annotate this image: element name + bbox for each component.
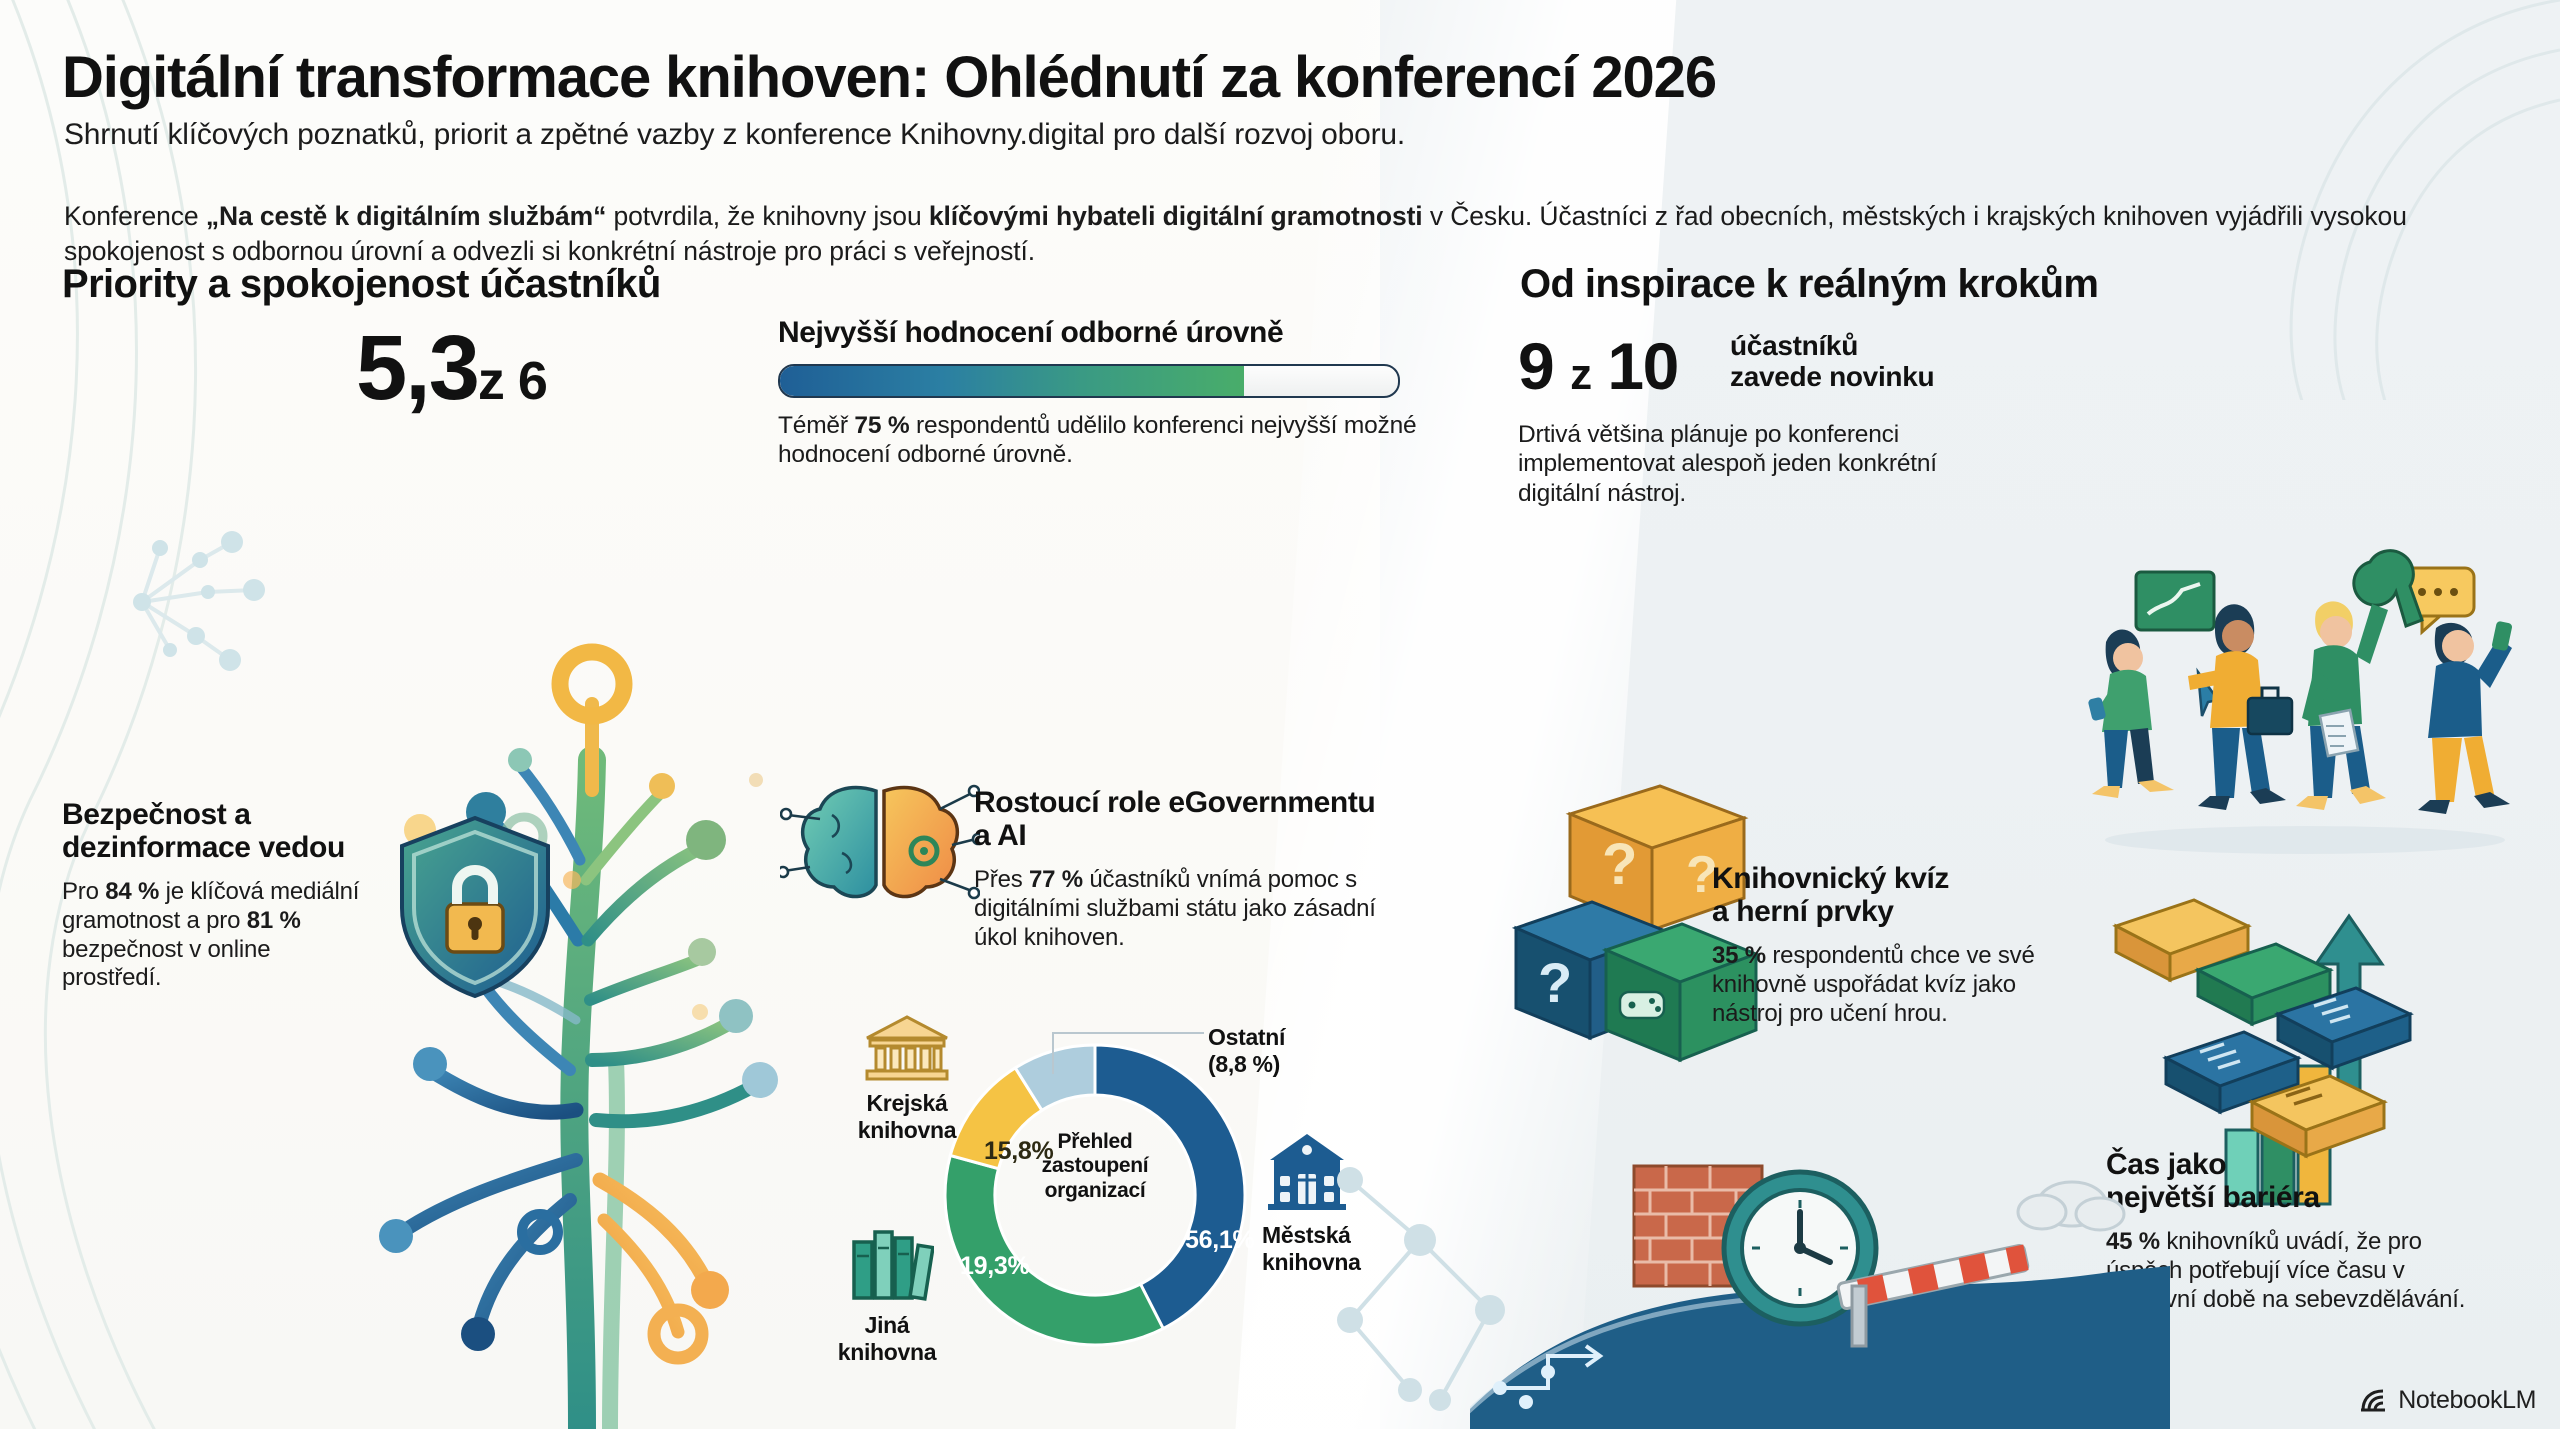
donut-value-jina: 19,3% bbox=[960, 1252, 1029, 1281]
intro-bold-1: „Na cestě k digitálním službám“ bbox=[206, 201, 606, 231]
books-icon bbox=[848, 1222, 934, 1302]
intro-text-1: Konference bbox=[64, 201, 206, 231]
section-heading-left: Priority a spokojenost účastníků bbox=[62, 262, 661, 307]
legend-jina-line2: knihovna bbox=[822, 1339, 952, 1366]
rating-bar-title: Nejvyšší hodnocení odborné úrovně bbox=[778, 316, 1418, 350]
section-heading-right: Od inspirace k reálným krokům bbox=[1520, 262, 2098, 307]
adoption-label-line2: zavede novinku bbox=[1730, 361, 1934, 392]
shield-lock-icon bbox=[390, 812, 560, 1002]
bank-icon bbox=[862, 1012, 952, 1082]
block-quiz-body: 35 % respondentů chce ve své knihovně us… bbox=[1712, 942, 2092, 1028]
legend-mestska-line2: knihovna bbox=[1262, 1249, 1402, 1276]
quiz-b1: 35 % bbox=[1712, 942, 1766, 969]
notebooklm-label: NotebookLM bbox=[2398, 1386, 2536, 1415]
ai-brain-icon bbox=[780, 775, 980, 925]
intro-text-2: potvrdila, že knihovny jsou bbox=[606, 201, 929, 231]
block-quiz: Knihovnický kvíz a herní prvky 35 % resp… bbox=[1712, 862, 2092, 1028]
digital-tree-illustration bbox=[270, 640, 950, 1429]
road-clock-barrier-illustration bbox=[1470, 1140, 2170, 1429]
block-security-body: Pro 84 % je klíčová mediální gramotnost … bbox=[62, 878, 362, 993]
library-building-icon bbox=[1264, 1130, 1350, 1210]
adoption-value-2: 10 bbox=[1607, 329, 1677, 403]
sec-b1: 84 % bbox=[105, 878, 159, 905]
organization-donut-chart: Přehled zastoupení organizací 56,1% 19,3… bbox=[930, 1030, 1260, 1360]
intro-bold-2: klíčovými hybateli digitální gramotnosti bbox=[929, 201, 1423, 231]
rating-bar-card: Nejvyšší hodnocení odborné úrovně Téměř … bbox=[778, 316, 1418, 470]
rating-stat: 5,3z 6 bbox=[356, 316, 547, 421]
adoption-note: Drtivá většina plánuje po konferenci imp… bbox=[1518, 420, 1988, 508]
adoption-mid: z bbox=[1570, 350, 1591, 399]
rating-unit: z 6 bbox=[478, 351, 547, 411]
donut-value-krejska: 15,8% bbox=[984, 1137, 1053, 1166]
legend-ostatni: Ostatní (8,8 %) bbox=[1208, 1024, 1358, 1078]
quiz-heading-line1: Knihovnický kvíz bbox=[1712, 862, 1949, 895]
legend-mestska-line1: Městská bbox=[1262, 1222, 1402, 1249]
svg-text:?: ? bbox=[1538, 951, 1572, 1014]
legend-krejska-line1: Krejská bbox=[842, 1090, 972, 1117]
rating-progress-bar bbox=[778, 364, 1400, 398]
donut-center-line3: organizací bbox=[1018, 1179, 1172, 1203]
sec-t3: bezpečnost v online prostředí. bbox=[62, 936, 270, 992]
quiz-heading-line2: a herní prvky bbox=[1712, 895, 1894, 928]
legend-jina-line1: Jiná bbox=[822, 1312, 952, 1339]
egov-b1: 77 % bbox=[1029, 866, 1083, 893]
rating-value: 5,3 bbox=[356, 317, 478, 419]
rating-bar-note: Téměř 75 % respondentů udělilo konferenc… bbox=[778, 411, 1418, 470]
rating-note-value: 75 % bbox=[854, 412, 909, 439]
legend-jina: Jiná knihovna bbox=[822, 1312, 952, 1366]
legend-ostatni-line2: (8,8 %) bbox=[1208, 1051, 1358, 1078]
block-egovernment: Rostoucí role eGovernmentu a AI Přes 77 … bbox=[974, 786, 1394, 952]
sec-b2: 81 % bbox=[247, 907, 301, 934]
donut-value-mestska: 56,1% bbox=[1185, 1226, 1254, 1255]
block-security: Bezpečnost a dezinformace vedou Pro 84 %… bbox=[62, 798, 362, 993]
block-egov-body: Přes 77 % účastníků vnímá pomoc s digitá… bbox=[974, 866, 1394, 952]
legend-mestska: Městská knihovna bbox=[1262, 1222, 1402, 1276]
block-egov-heading: Rostoucí role eGovernmentu a AI bbox=[974, 786, 1394, 852]
block-quiz-heading: Knihovnický kvíz a herní prvky bbox=[1712, 862, 2092, 928]
adoption-label-line1: účastníků bbox=[1730, 330, 1934, 361]
legend-ostatni-line1: Ostatní bbox=[1208, 1024, 1358, 1051]
block-security-heading: Bezpečnost a dezinformace vedou bbox=[62, 798, 362, 864]
notebooklm-badge: NotebookLM bbox=[2359, 1386, 2536, 1415]
intro-paragraph: Konference „Na cestě k digitálním službá… bbox=[64, 199, 2484, 269]
adoption-label: účastníků zavede novinku bbox=[1730, 330, 1934, 393]
adoption-value-1: 9 bbox=[1518, 329, 1553, 403]
page-title: Digitální transformace knihoven: Ohlédnu… bbox=[62, 44, 1716, 111]
egov-t1: Přes bbox=[974, 866, 1029, 893]
adoption-stat: 9 z 10 bbox=[1518, 328, 1678, 404]
notebooklm-logo-icon bbox=[2359, 1388, 2389, 1414]
infographic-poster: Digitální transformace knihoven: Ohlédnu… bbox=[0, 0, 2560, 1429]
rating-note-pre: Téměř bbox=[778, 412, 854, 439]
rating-progress-fill bbox=[780, 366, 1244, 396]
legend-krejska-line2: knihovna bbox=[842, 1117, 972, 1144]
sec-t1: Pro bbox=[62, 878, 105, 905]
legend-krejska: Krejská knihovna bbox=[842, 1090, 972, 1144]
walking-people-illustration bbox=[2070, 540, 2540, 870]
svg-text:?: ? bbox=[1602, 832, 1637, 897]
donut-leader-line bbox=[1052, 1032, 1204, 1074]
page-subtitle: Shrnutí klíčových poznatků, priorit a zp… bbox=[64, 118, 1405, 152]
